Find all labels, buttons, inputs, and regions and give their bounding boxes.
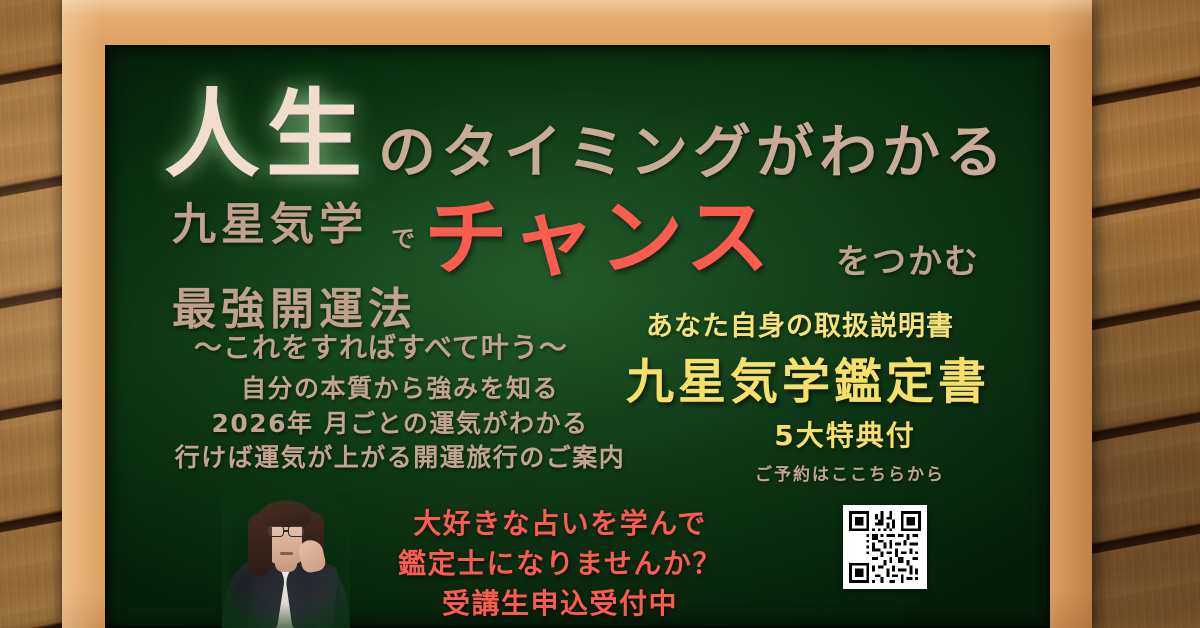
portrait-mouth — [280, 552, 293, 555]
recruitment-line: 受講生申込受付中 — [370, 584, 750, 624]
offer-bonus-badge: 5大特典付 — [700, 422, 990, 450]
benefit-item: 行けば運気が上がる開運旅行のご案内 — [150, 441, 650, 476]
recruitment-block: 大好きな占いを学んで 鑑定士になりませんか？ 受講生申込受付中 — [370, 504, 750, 623]
recruitment-line: 鑑定士になりませんか？ — [370, 544, 750, 584]
offer-lead: あなた自身の取扱説明書 — [620, 313, 980, 340]
portrait-glasses-bridge — [283, 530, 289, 532]
benefit-item: 自分の本質から強みを知る — [150, 372, 650, 407]
recruitment-line: 大好きな占いを学んで — [370, 504, 750, 544]
method-subtitle: 〜これをすればすべて叶う〜 — [194, 334, 568, 362]
reservation-cta-label: ご予約はここちらから — [700, 467, 1000, 484]
method-title: 最強開運法 — [172, 288, 417, 332]
emphasis-tail: をつかむ — [836, 245, 980, 279]
emphasis-word: チャンス — [424, 196, 773, 280]
portrait-glasses-left-lens — [267, 525, 284, 537]
qr-code[interactable] — [843, 505, 927, 589]
benefit-item: 2026年 月ごとの運気がわかる — [150, 407, 650, 442]
qr-code-icon — [849, 511, 921, 583]
headline-rest: のタイミングがわかる — [378, 123, 1008, 181]
particle-de: で — [391, 227, 415, 251]
portrait-fringe — [261, 502, 311, 527]
offer-product-title: 九星気学鑑定書 — [618, 358, 998, 406]
headline-main: 人生 — [164, 87, 368, 183]
portrait-glasses-right-lens — [288, 525, 305, 537]
subject-label: 九星気学 — [172, 203, 368, 247]
benefit-list: 自分の本質から強みを知る 2026年 月ごとの運気がわかる 行けば運気が上がる開… — [150, 372, 650, 476]
instructor-portrait — [222, 492, 350, 628]
